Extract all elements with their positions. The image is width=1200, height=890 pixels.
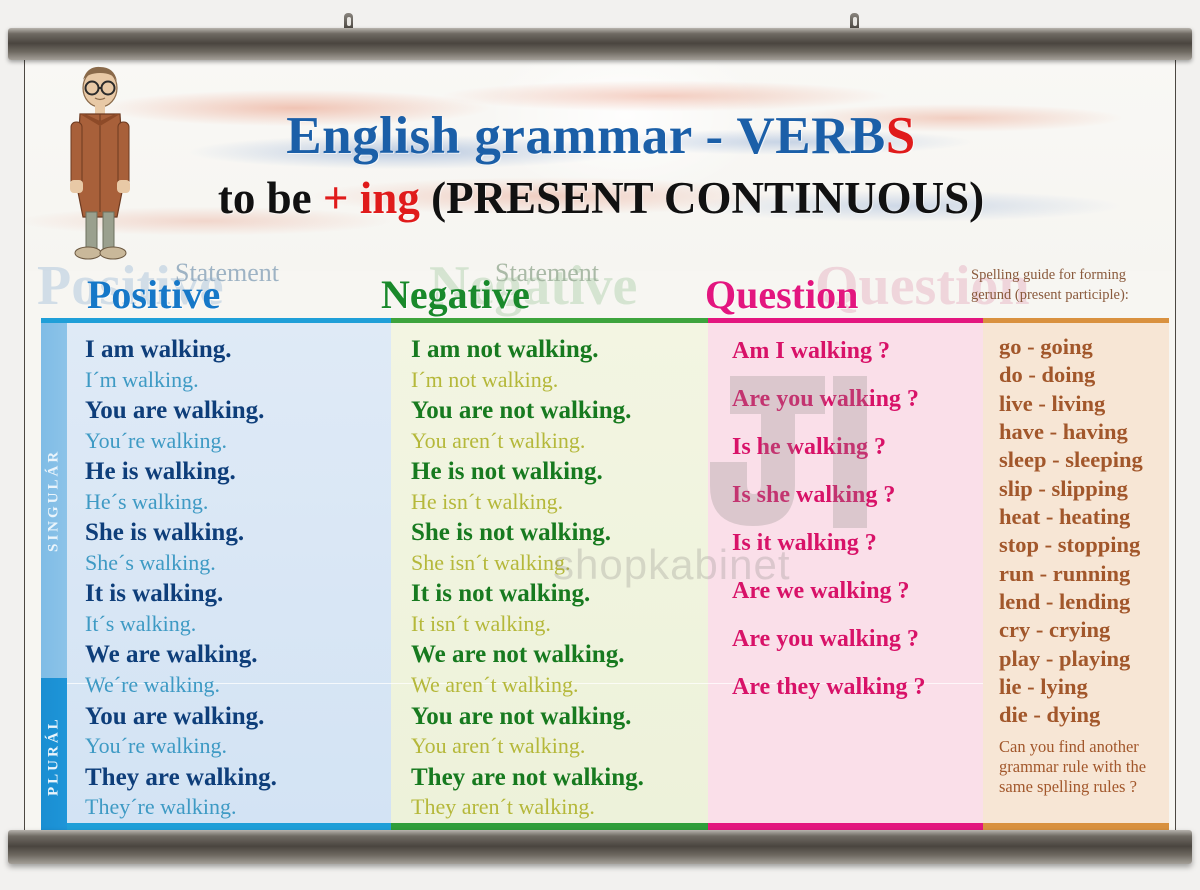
sentence-full: You are not walking. <box>411 702 708 733</box>
sentence-full: He is not walking. <box>411 457 708 488</box>
spelling-pair: run - running <box>999 560 1169 588</box>
spelling-pair: cry - crying <box>999 616 1169 644</box>
sentence-contracted: She´s walking. <box>85 549 391 578</box>
sentence-full: I am not walking. <box>411 335 708 366</box>
sentence-full: They are not walking. <box>411 763 708 794</box>
subtitle-plus-ing: + ing <box>323 173 420 223</box>
poster-rail-bottom <box>8 830 1192 864</box>
spelling-pair: go - going <box>999 333 1169 361</box>
sentence-full: We are walking. <box>85 640 391 671</box>
column-header-row: Statement Statement Positive Negative Qu… <box>25 256 1176 318</box>
sentence-contracted: She isn´t walking. <box>411 549 708 578</box>
sentence-contracted: You aren´t walking. <box>411 427 708 456</box>
sentence-contracted: You aren´t walking. <box>411 732 708 761</box>
sentence-contracted: He isn´t walking. <box>411 488 708 517</box>
question-sentence: Are you walking ? <box>732 627 983 651</box>
sentence-full: He is walking. <box>85 457 391 488</box>
spelling-note: Can you find another grammar rule with t… <box>999 737 1169 797</box>
subtitle-rest: (PRESENT CONTINUOUS) <box>420 173 984 223</box>
sentence-full: You are not walking. <box>411 396 708 427</box>
column-header-question: Question <box>705 271 858 318</box>
question-sentence: Is she walking ? <box>732 483 983 507</box>
sentence-contracted: It isn´t walking. <box>411 610 708 639</box>
side-label-plural: PLURÁL <box>41 678 67 834</box>
sentence-full: You are walking. <box>85 396 391 427</box>
question-lines: Am I walking ?Are you walking ?Is he wal… <box>708 323 983 723</box>
question-sentence: Is it walking ? <box>732 531 983 555</box>
sentence-full: We are not walking. <box>411 640 708 671</box>
poster-title: English grammar - VERBS <box>25 106 1176 166</box>
spelling-pair: have - having <box>999 418 1169 446</box>
sentence-contracted: He´s walking. <box>85 488 391 517</box>
spelling-pair: do - doing <box>999 361 1169 389</box>
spelling-pair: slip - slipping <box>999 475 1169 503</box>
sentence-contracted: You´re walking. <box>85 732 391 761</box>
spelling-pair: lie - lying <box>999 673 1169 701</box>
sentence-full: It is walking. <box>85 579 391 610</box>
sentence-full: She is not walking. <box>411 518 708 549</box>
title-verb: VERB <box>736 107 885 165</box>
subtitle-tobe: to be <box>218 173 323 223</box>
sentence-full: It is not walking. <box>411 579 708 610</box>
column-header-positive: Positive <box>87 271 220 318</box>
spelling-pair: play - playing <box>999 645 1169 673</box>
sentence-contracted: It´s walking. <box>85 610 391 639</box>
sentence-contracted: We´re walking. <box>85 671 391 700</box>
sentence-contracted: They´re walking. <box>85 793 391 822</box>
sentence-contracted: You´re walking. <box>85 427 391 456</box>
question-sentence: Is he walking ? <box>732 435 983 459</box>
column-question: Am I walking ?Are you walking ?Is he wal… <box>708 318 983 823</box>
title-main-part1: English grammar - <box>286 107 736 165</box>
spelling-pair: stop - stopping <box>999 531 1169 559</box>
sentence-contracted: They aren´t walking. <box>411 793 708 822</box>
sentence-full: They are walking. <box>85 763 391 794</box>
column-negative: I am not walking.I´m not walking.You are… <box>391 318 708 823</box>
side-label-singular: SINGULÁR <box>41 323 67 678</box>
sentence-contracted: I´m not walking. <box>411 366 708 395</box>
poster-rail-top <box>8 28 1192 60</box>
poster-subtitle: to be + ing (PRESENT CONTINUOUS) <box>25 172 1176 224</box>
poster-frame: English grammar - VERBS to be + ing (PRE… <box>0 0 1200 890</box>
column-header-spelling-guide: Spelling guide for forming gerund (prese… <box>971 266 1167 305</box>
column-header-negative: Negative <box>381 271 530 318</box>
question-sentence: Are we walking ? <box>732 579 983 603</box>
conjugation-table: I am walking.I´m walking.You are walking… <box>41 318 1169 838</box>
question-sentence: Am I walking ? <box>732 339 983 363</box>
positive-lines: I am walking.I´m walking.You are walking… <box>41 323 391 824</box>
question-sentence: Are they walking ? <box>732 675 983 699</box>
sentence-full: You are walking. <box>85 702 391 733</box>
spelling-pair: live - living <box>999 390 1169 418</box>
sentence-contracted: I´m walking. <box>85 366 391 395</box>
column-positive: I am walking.I´m walking.You are walking… <box>41 318 391 823</box>
sentence-full: She is walking. <box>85 518 391 549</box>
spelling-pair: lend - lending <box>999 588 1169 616</box>
sentence-contracted: We aren´t walking. <box>411 671 708 700</box>
spelling-lines: go - goingdo - doinglive - livinghave - … <box>983 323 1169 797</box>
question-sentence: Are you walking ? <box>732 387 983 411</box>
title-verb-s: S <box>886 107 916 165</box>
column-spelling-guide: go - goingdo - doinglive - livinghave - … <box>983 318 1169 823</box>
sentence-full: I am walking. <box>85 335 391 366</box>
poster-sheet: English grammar - VERBS to be + ing (PRE… <box>24 56 1176 838</box>
negative-lines: I am not walking.I´m not walking.You are… <box>391 323 708 824</box>
spelling-pair: heat - heating <box>999 503 1169 531</box>
title-block: English grammar - VERBS to be + ing (PRE… <box>25 106 1176 224</box>
spelling-pair: sleep - sleeping <box>999 446 1169 474</box>
spelling-pair: die - dying <box>999 701 1169 729</box>
